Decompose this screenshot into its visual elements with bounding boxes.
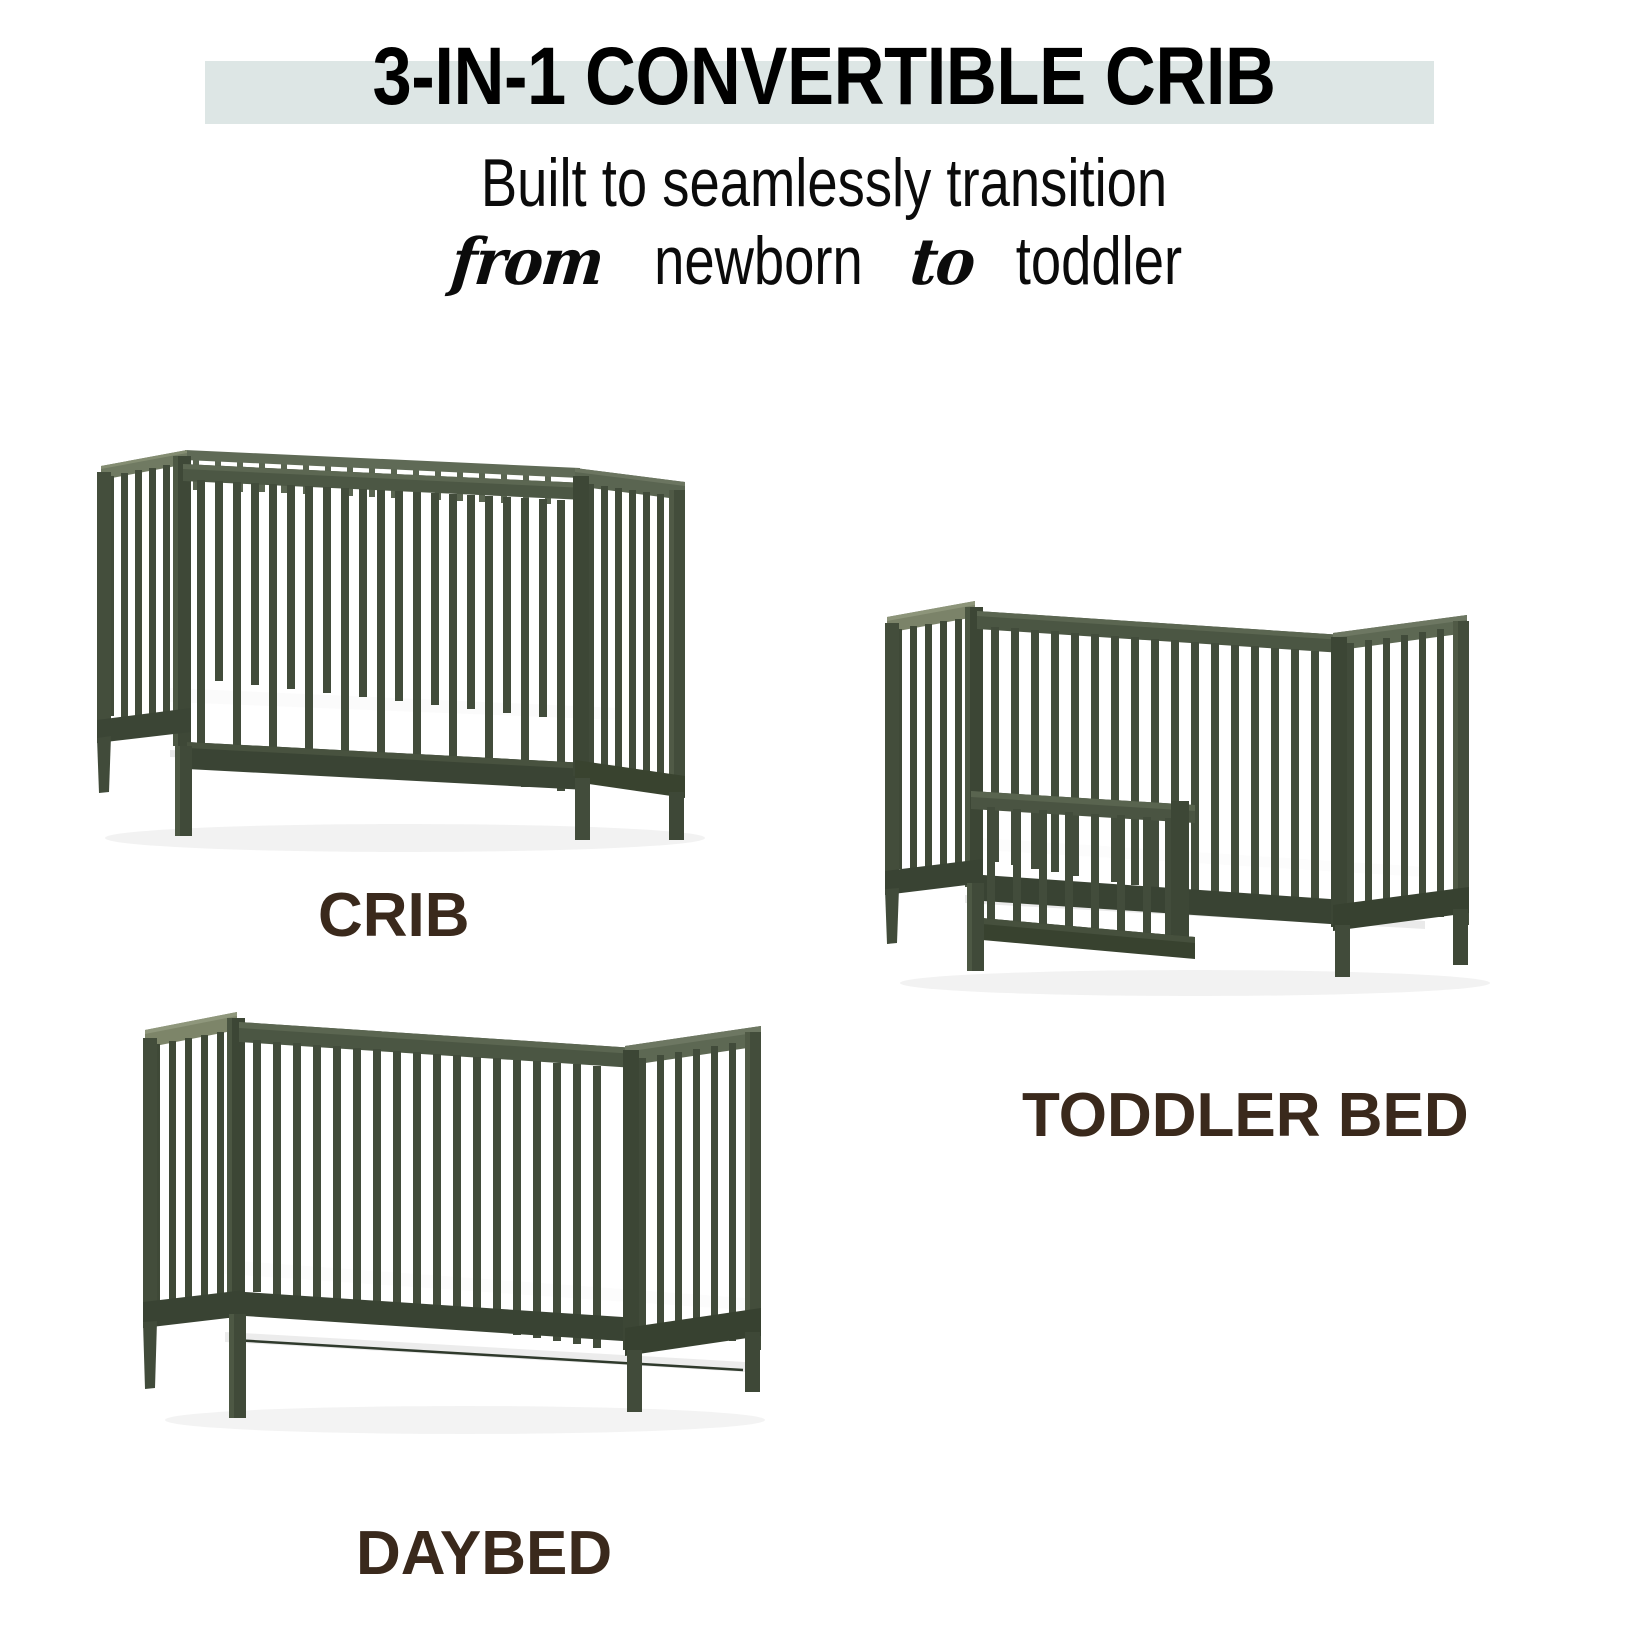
- subtitle-line-2: from newborn to toddler: [0, 222, 1648, 302]
- page-title: 3-IN-1 CONVERTIBLE CRIB: [115, 34, 1532, 120]
- product-image-daybed: [125, 980, 805, 1450]
- subtitle-script-from: from: [448, 224, 607, 302]
- subtitle-word-toddler: toddler: [1016, 222, 1182, 300]
- subtitle-script-to: to: [906, 224, 977, 302]
- product-label-daybed: DAYBED: [356, 1518, 612, 1589]
- product-label-toddler-bed: TODDLER BED: [1022, 1080, 1469, 1151]
- subtitle-word-newborn: newborn: [654, 222, 863, 300]
- product-image-toddler-bed: [865, 575, 1525, 1005]
- headline-block: 3-IN-1 CONVERTIBLE CRIB: [0, 34, 1648, 120]
- infographic-stage: 3-IN-1 CONVERTIBLE CRIB Built to seamles…: [0, 0, 1648, 1648]
- product-label-crib: CRIB: [318, 880, 470, 951]
- product-image-crib: [75, 420, 735, 860]
- subtitle-line-1: Built to seamlessly transition: [165, 146, 1483, 220]
